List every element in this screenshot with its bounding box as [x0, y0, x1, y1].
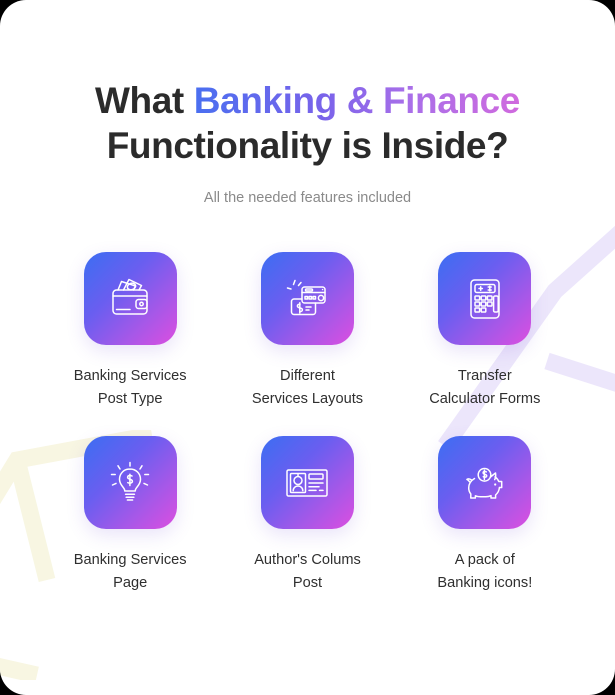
title-prefix: What — [95, 80, 194, 121]
feature-icon-tile[interactable] — [261, 436, 354, 529]
feature-item[interactable]: Author's Colums Post — [225, 436, 390, 594]
wallet-cash-icon — [105, 274, 155, 324]
feature-label: Transfer Calculator Forms — [429, 365, 540, 410]
feature-item[interactable]: Transfer Calculator Forms — [402, 252, 567, 410]
feature-icon-tile[interactable] — [438, 252, 531, 345]
feature-icon-tile[interactable] — [261, 252, 354, 345]
header: What Banking & Finance Functionality is … — [0, 0, 615, 206]
feature-showcase-card: What Banking & Finance Functionality is … — [0, 0, 615, 695]
feature-label: A pack of Banking icons! — [437, 549, 532, 594]
calculator-icon — [460, 274, 510, 324]
id-card-person-icon — [282, 458, 332, 508]
lightbulb-dollar-icon — [105, 458, 155, 508]
title-line-2: Functionality is Inside? — [107, 125, 509, 166]
feature-item[interactable]: Banking Services Page — [48, 436, 213, 594]
page-title: What Banking & Finance Functionality is … — [0, 78, 615, 168]
feature-icon-tile[interactable] — [84, 436, 177, 529]
feature-icon-tile[interactable] — [84, 252, 177, 345]
feature-label: Author's Colums Post — [254, 549, 361, 594]
piggy-bank-icon — [460, 458, 510, 508]
feature-item[interactable]: Banking Services Post Type — [48, 252, 213, 410]
feature-icon-tile[interactable] — [438, 436, 531, 529]
feature-label: Different Services Layouts — [252, 365, 363, 410]
feature-grid: Banking Services Post Type — [48, 252, 568, 594]
feature-item[interactable]: Different Services Layouts — [225, 252, 390, 410]
title-accent: Banking & Finance — [194, 80, 520, 121]
feature-label: Banking Services Page — [74, 549, 187, 594]
credit-cards-icon — [282, 274, 332, 324]
feature-label: Banking Services Post Type — [74, 365, 187, 410]
feature-item[interactable]: A pack of Banking icons! — [402, 436, 567, 594]
page-subtitle: All the needed features included — [0, 190, 615, 206]
